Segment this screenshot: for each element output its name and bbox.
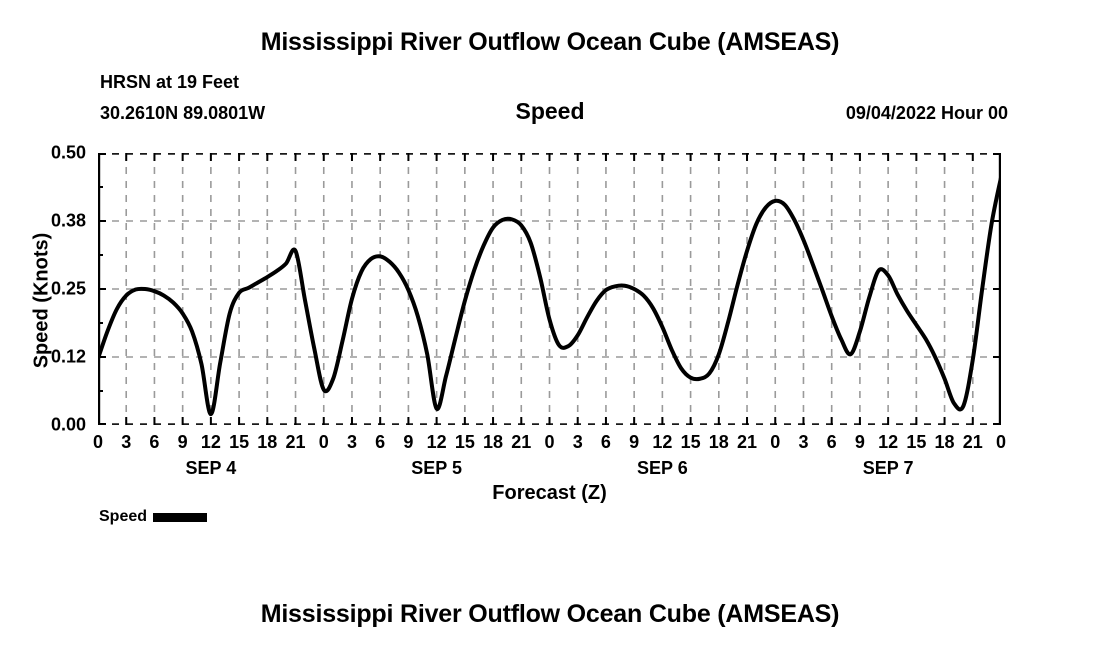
legend-label: Speed [99,508,147,526]
y-axis-tick: 0.00 [51,415,86,436]
x-axis-tick: 9 [855,432,865,453]
x-axis-tick: 0 [319,432,329,453]
x-axis-tick: 6 [149,432,159,453]
x-axis-tick: 12 [427,432,447,453]
x-axis-tick: 0 [770,432,780,453]
x-axis-tick: 21 [286,432,306,453]
x-axis-tick: 15 [681,432,701,453]
x-axis-tick: 3 [347,432,357,453]
forecast-datestamp: 09/04/2022 Hour 00 [846,103,1008,124]
x-axis-tick: 3 [573,432,583,453]
x-axis-tick: 0 [996,432,1006,453]
x-axis-tick: 15 [229,432,249,453]
plot-area [98,153,1001,425]
x-axis-tick-labels: 0369121518210369121518210369121518210369… [98,432,1001,458]
x-axis-tick: 21 [511,432,531,453]
x-axis-day-label: SEP 5 [411,458,462,479]
x-axis-tick: 18 [709,432,729,453]
x-axis-tick: 12 [201,432,221,453]
y-axis-tick: 0.25 [51,279,86,300]
x-axis-tick: 9 [178,432,188,453]
legend-line-swatch [153,513,207,522]
y-axis-tick: 0.12 [51,347,86,368]
x-axis-day-labels: SEP 4SEP 5SEP 6SEP 7 [98,458,1001,484]
speed-line-chart [98,153,1001,425]
footer-title: Mississippi River Outflow Ocean Cube (AM… [0,600,1100,629]
x-axis-tick: 3 [798,432,808,453]
x-axis-tick: 21 [737,432,757,453]
x-axis-tick: 6 [601,432,611,453]
x-axis-tick: 9 [403,432,413,453]
x-axis-tick: 18 [935,432,955,453]
chart-page: Mississippi River Outflow Ocean Cube (AM… [0,0,1100,650]
x-axis-tick: 15 [906,432,926,453]
x-axis-tick: 15 [455,432,475,453]
y-axis-tick: 0.50 [51,143,86,164]
x-axis-tick: 12 [652,432,672,453]
x-axis-day-label: SEP 4 [186,458,237,479]
x-axis-tick: 6 [827,432,837,453]
y-axis-tick: 0.38 [51,211,86,232]
x-axis-day-label: SEP 6 [637,458,688,479]
x-axis-tick: 18 [483,432,503,453]
x-axis-tick: 9 [629,432,639,453]
x-axis-tick: 21 [963,432,983,453]
legend: Speed [99,508,207,526]
x-axis-tick: 0 [544,432,554,453]
station-depth-label: HRSN at 19 Feet [100,72,239,93]
x-axis-title: Forecast (Z) [98,482,1001,505]
x-axis-tick: 18 [257,432,277,453]
x-axis-tick: 0 [93,432,103,453]
y-axis-title: Speed (Knots) [31,181,54,421]
x-axis-tick: 3 [121,432,131,453]
x-axis-day-label: SEP 7 [863,458,914,479]
x-axis-tick: 6 [375,432,385,453]
x-axis-tick: 12 [878,432,898,453]
page-title: Mississippi River Outflow Ocean Cube (AM… [0,28,1100,57]
